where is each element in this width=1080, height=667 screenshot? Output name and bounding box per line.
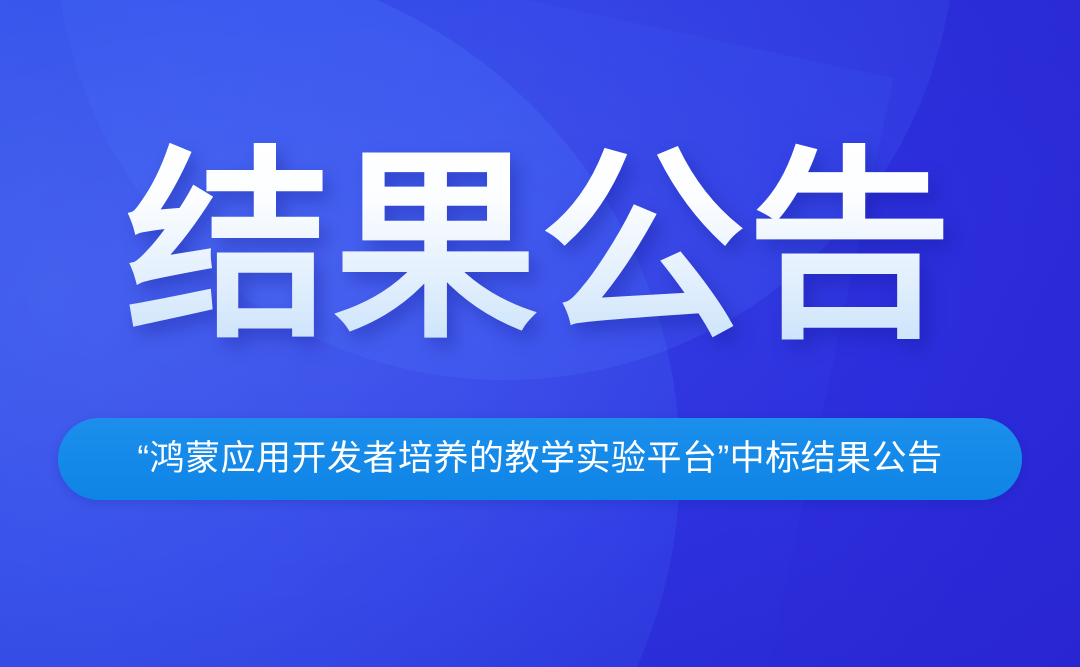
banner-content: 结果公告 “鸿蒙应用开发者培养的教学实验平台”中标结果公告 xyxy=(0,0,1080,667)
announcement-banner: 结果公告 “鸿蒙应用开发者培养的教学实验平台”中标结果公告 xyxy=(0,0,1080,667)
subtitle-pill: “鸿蒙应用开发者培养的教学实验平台”中标结果公告 xyxy=(58,418,1022,500)
subtitle-text: “鸿蒙应用开发者培养的教学实验平台”中标结果公告 xyxy=(137,438,942,480)
page-title: 结果公告 xyxy=(0,143,1080,353)
